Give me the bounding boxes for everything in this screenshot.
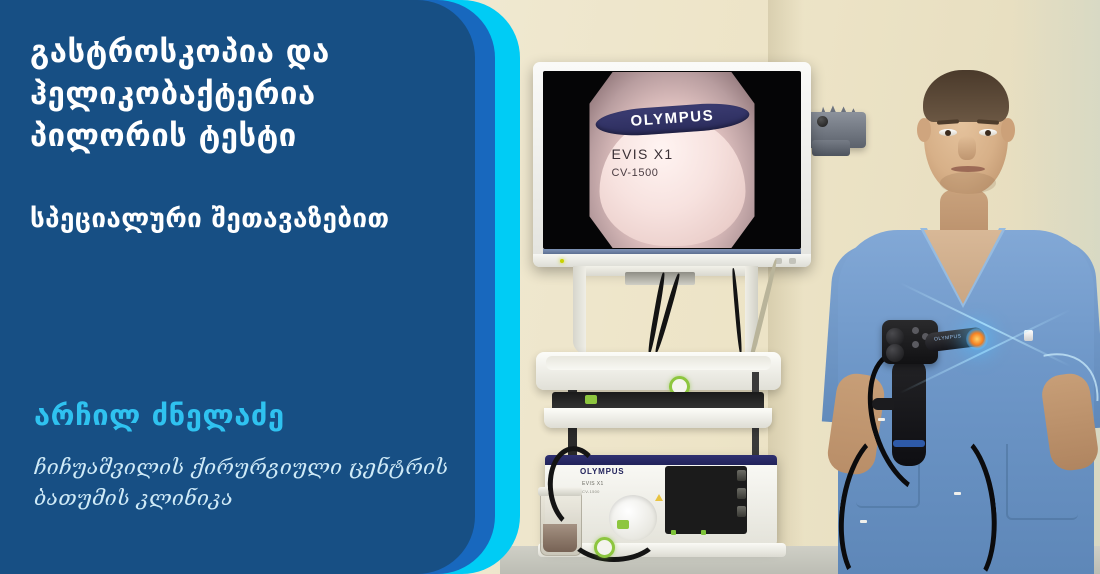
endoscope-blue-ring <box>893 440 925 447</box>
monitor-power-led-icon <box>560 259 564 263</box>
title-line-1: გასტროსკოპია და <box>30 34 330 70</box>
lens-flare-icon <box>966 328 988 350</box>
scope-dome-shape <box>600 116 746 246</box>
pupil-left <box>945 130 951 136</box>
title-line-3: პილორის ტესტი <box>30 118 297 154</box>
clinic-name: ჩიჩუაშვილის ქირურგიული ცენტრის ბათუმის კ… <box>34 452 448 514</box>
monitor-mount-left-arm <box>573 266 586 354</box>
nose <box>958 136 976 160</box>
processor-side-button-3[interactable] <box>737 506 746 517</box>
cart-shelf-lip <box>546 356 771 370</box>
processor-side-button-2[interactable] <box>737 488 746 499</box>
regulator-knob-icon <box>817 116 828 127</box>
clinic-line-2: ბათუმის კლინიკა <box>34 483 448 514</box>
processor-touchscreen-frame <box>665 466 747 534</box>
monitor-model-label: EVIS X1 <box>612 146 674 162</box>
monitor-screen: OLYMPUS EVIS X1 CV-1500 <box>543 71 801 249</box>
ear-right <box>1001 118 1015 142</box>
chin-shadow <box>940 172 996 194</box>
tube-depth-mark-3 <box>860 520 867 523</box>
cart-drawer-front <box>544 408 772 428</box>
processor-side-button-1[interactable] <box>737 470 746 481</box>
pupil-right <box>985 130 991 136</box>
green-status-ring-icon-2 <box>594 537 615 558</box>
green-clip-icon-1 <box>585 395 597 404</box>
monitor-submodel-label: CV-1500 <box>612 167 659 179</box>
olympus-brand-band: OLYMPUS <box>595 101 751 139</box>
promo-banner: OLYMPUS EVIS X1 CV-1500 OLYMPUS <box>0 0 1100 574</box>
tube-depth-mark-2 <box>954 492 961 495</box>
endoscope-angulation-knob-2 <box>886 344 904 362</box>
hair <box>923 70 1009 122</box>
endoscope-lever <box>872 398 894 410</box>
monitor-button-2 <box>789 258 796 264</box>
eye-left <box>939 129 957 136</box>
monitor-brand-label: OLYMPUS <box>595 105 750 133</box>
clinic-line-1: ჩიჩუაშვილის ქირურგიული ცენტრის <box>34 452 448 483</box>
suction-tube-2 <box>566 500 662 562</box>
endoscope-button-3 <box>912 341 919 348</box>
processor-indicator-lamp-1 <box>671 530 676 535</box>
endoscope-button-1 <box>912 327 919 334</box>
tube-depth-mark-1 <box>878 418 885 421</box>
endoscopic-image: OLYMPUS EVIS X1 CV-1500 <box>590 72 755 248</box>
ear-left <box>917 118 931 142</box>
subtitle-offer: სპეციალური შეთავაზებით <box>30 204 389 234</box>
warning-triangle-icon <box>655 494 663 501</box>
eye-right <box>979 129 997 136</box>
green-clip-icon-2 <box>617 520 629 529</box>
doctor-name: არჩილ ძნელაძე <box>34 398 285 432</box>
endoscope-control-body <box>892 358 926 466</box>
processor-indicator-lamp-2 <box>701 530 706 535</box>
title-line-2: ჰელიკობაქტერია <box>30 76 316 112</box>
